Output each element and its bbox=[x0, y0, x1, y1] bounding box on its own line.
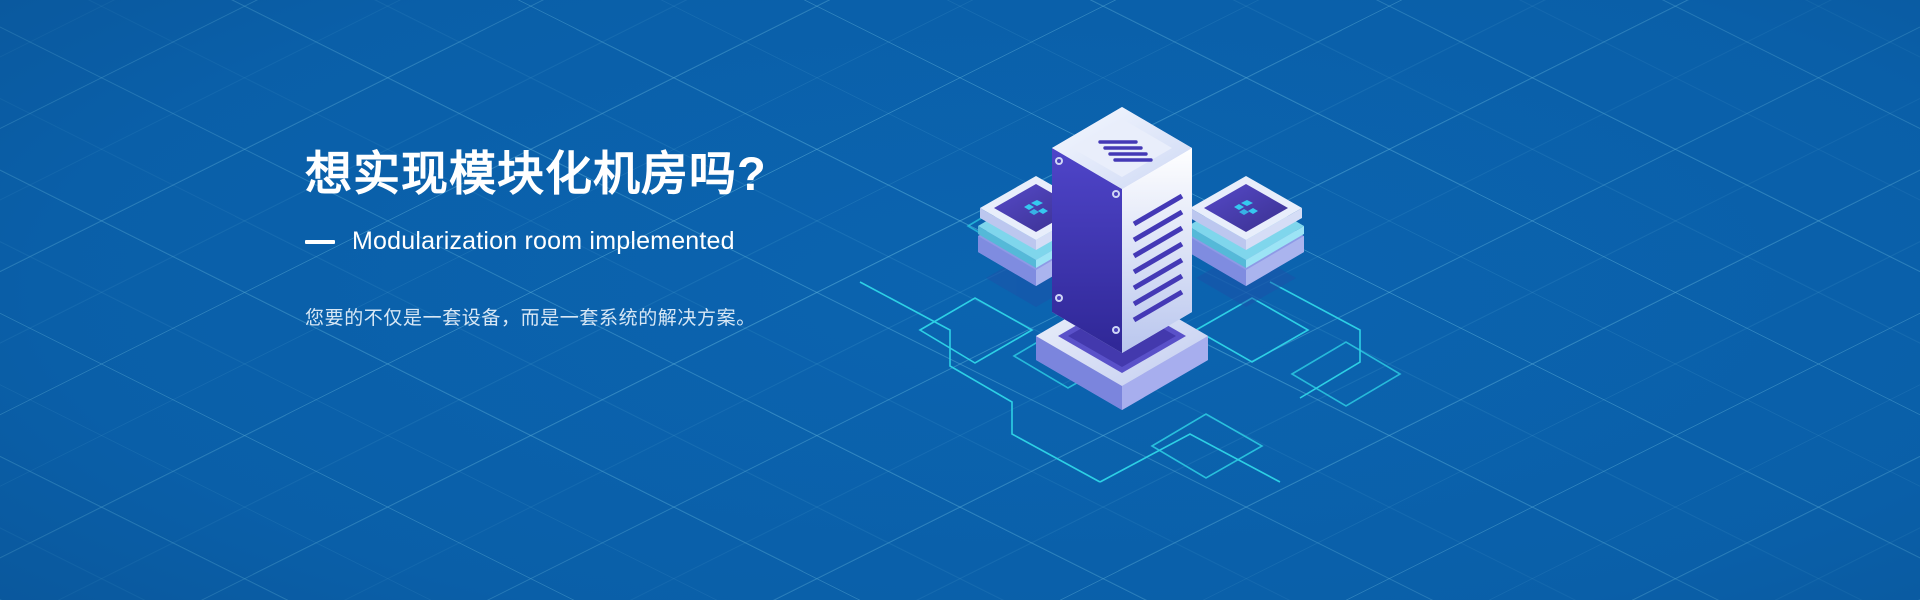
divider-dash-icon bbox=[305, 240, 335, 244]
server-tower bbox=[1036, 107, 1208, 410]
chip-module-right bbox=[1188, 176, 1304, 286]
hero-banner: 想实现模块化机房吗? Modularization room implement… bbox=[0, 0, 1920, 600]
circuit-diamond-far-right bbox=[1292, 342, 1400, 406]
circuit-path-right bbox=[1270, 282, 1360, 398]
circuit-diamond-right bbox=[1196, 298, 1308, 362]
isometric-server-illustration bbox=[800, 30, 1420, 570]
hero-subtitle: Modularization room implemented bbox=[352, 227, 735, 256]
circuit-diamond-left bbox=[920, 298, 1032, 363]
